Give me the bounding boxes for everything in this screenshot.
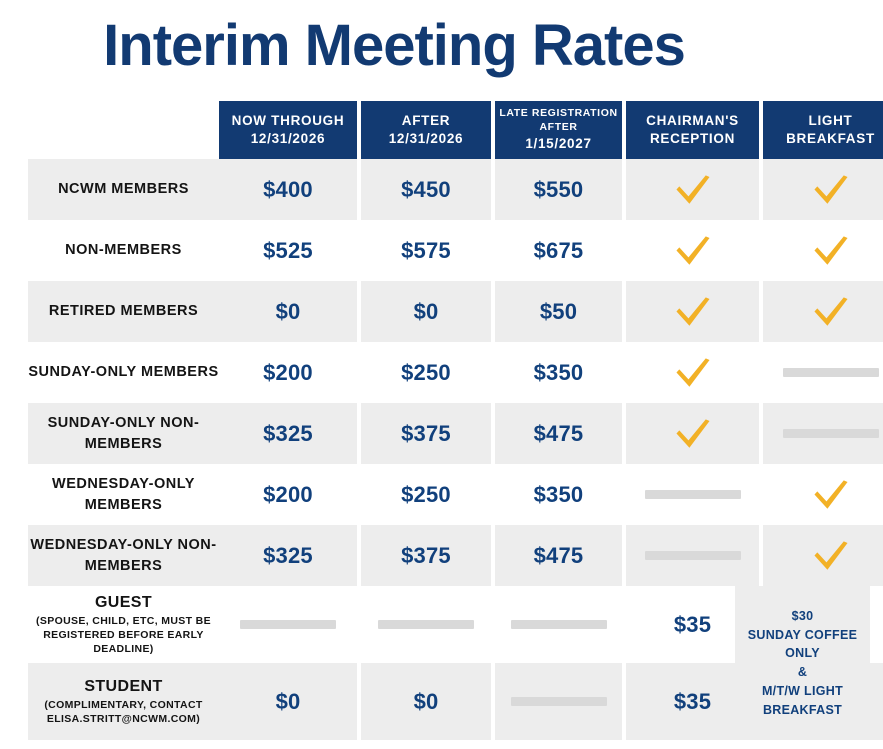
breakfast-cell bbox=[763, 525, 883, 586]
table-row: SUNDAY-ONLY NON-MEMBERS$325$375$475 bbox=[28, 403, 870, 464]
checkmark-icon bbox=[812, 539, 850, 573]
breakfast-cell bbox=[763, 220, 883, 281]
table-row: WEDNESDAY-ONLY NON-MEMBERS$325$375$475 bbox=[28, 525, 870, 586]
price-cell-after: $0 bbox=[361, 663, 491, 740]
not-included-bar bbox=[783, 368, 879, 377]
price-value: $0 bbox=[414, 689, 439, 715]
price-cell-now-through bbox=[219, 586, 357, 663]
price-value: $250 bbox=[401, 360, 451, 386]
table-body: NCWM MEMBERS$400$450$550NON-MEMBERS$525$… bbox=[28, 159, 870, 586]
price-value: $400 bbox=[263, 177, 313, 203]
checkmark-icon bbox=[812, 478, 850, 512]
price-cell-now-through: $525 bbox=[219, 220, 357, 281]
price-cell-after: $375 bbox=[361, 403, 491, 464]
price-cell-late bbox=[495, 663, 622, 740]
row-label: RETIRED MEMBERS bbox=[49, 301, 198, 322]
row-label: SUNDAY-ONLY MEMBERS bbox=[28, 362, 218, 383]
row-label-cell: GUEST(SPOUSE, CHILD, ETC, MUST BE REGIST… bbox=[28, 586, 219, 663]
header-line-1: AFTER bbox=[402, 112, 451, 130]
row-label: STUDENT bbox=[84, 677, 162, 696]
price-value: $550 bbox=[534, 177, 584, 203]
price-cell-late: $475 bbox=[495, 403, 622, 464]
price-cell-now-through: $325 bbox=[219, 525, 357, 586]
price-value: $0 bbox=[276, 689, 301, 715]
header-line-1: NOW THROUGH bbox=[232, 112, 345, 130]
price-value: $325 bbox=[263, 543, 313, 569]
price-cell-now-through: $400 bbox=[219, 159, 357, 220]
header-line-1: CHAIRMAN'S bbox=[646, 112, 739, 130]
reception-cell bbox=[626, 220, 759, 281]
table-row: RETIRED MEMBERS$0$0$50 bbox=[28, 281, 870, 342]
header-line-2: BREAKFAST bbox=[786, 130, 875, 148]
breakfast-note-cell: $30SUNDAY COFFEEONLY&M/T/W LIGHTBREAKFAS… bbox=[735, 586, 870, 740]
header-cell-late-registration: LATE REGISTRATION AFTER 1/15/2027 bbox=[495, 101, 622, 159]
breakfast-cell bbox=[763, 403, 883, 464]
checkmark-icon bbox=[812, 234, 850, 268]
table-footer-rows: GUEST(SPOUSE, CHILD, ETC, MUST BE REGIST… bbox=[28, 586, 870, 740]
reception-cell bbox=[626, 281, 759, 342]
breakfast-cell bbox=[763, 464, 883, 525]
row-label: NON-MEMBERS bbox=[65, 240, 182, 261]
reception-cell bbox=[626, 464, 759, 525]
price-value: $50 bbox=[540, 299, 577, 325]
checkmark-icon bbox=[674, 234, 712, 268]
row-label: GUEST bbox=[95, 593, 152, 612]
price-cell-now-through: $0 bbox=[219, 281, 357, 342]
page-title: Interim Meeting Rates bbox=[0, 16, 788, 77]
price-cell-now-through: $200 bbox=[219, 342, 357, 403]
row-sublabel: (SPOUSE, CHILD, ETC, MUST BE REGISTERED … bbox=[34, 614, 213, 656]
price-cell-after: $575 bbox=[361, 220, 491, 281]
row-label-cell: NON-MEMBERS bbox=[28, 220, 219, 281]
reception-cell bbox=[626, 525, 759, 586]
header-line-1b: AFTER bbox=[540, 121, 578, 135]
price-value: $450 bbox=[401, 177, 451, 203]
breakfast-note-text: $30SUNDAY COFFEEONLY&M/T/W LIGHTBREAKFAS… bbox=[748, 607, 857, 720]
price-cell-late: $550 bbox=[495, 159, 622, 220]
header-line-2: RECEPTION bbox=[650, 130, 735, 148]
row-label-cell: RETIRED MEMBERS bbox=[28, 281, 219, 342]
header-line-1: LATE REGISTRATION bbox=[499, 107, 617, 121]
not-included-bar bbox=[378, 620, 474, 629]
header-cell-blank bbox=[28, 101, 219, 159]
price-value: $0 bbox=[276, 299, 301, 325]
price-value: $350 bbox=[534, 482, 584, 508]
table-row: NCWM MEMBERS$400$450$550 bbox=[28, 159, 870, 220]
price-cell-now-through: $0 bbox=[219, 663, 357, 740]
header-line-2: 12/31/2026 bbox=[251, 130, 326, 148]
price-cell-now-through: $325 bbox=[219, 403, 357, 464]
checkmark-icon bbox=[812, 295, 850, 329]
row-label: WEDNESDAY-ONLY NON-MEMBERS bbox=[28, 535, 219, 576]
price-cell-after: $0 bbox=[361, 281, 491, 342]
header-line-2: 1/15/2027 bbox=[525, 135, 591, 153]
price-value: $200 bbox=[263, 482, 313, 508]
not-included-bar bbox=[783, 429, 879, 438]
price-value: $375 bbox=[401, 421, 451, 447]
table-header-row: NOW THROUGH 12/31/2026 AFTER 12/31/2026 … bbox=[28, 101, 870, 159]
price-cell-late: $675 bbox=[495, 220, 622, 281]
price-cell-after bbox=[361, 586, 491, 663]
checkmark-icon bbox=[812, 173, 850, 207]
not-included-bar bbox=[240, 620, 336, 629]
price-cell-after: $250 bbox=[361, 464, 491, 525]
price-value: $475 bbox=[534, 421, 584, 447]
row-label-cell: SUNDAY-ONLY MEMBERS bbox=[28, 342, 219, 403]
price-value: $475 bbox=[534, 543, 584, 569]
reception-cell bbox=[626, 159, 759, 220]
price-value: $350 bbox=[534, 360, 584, 386]
row-label-cell: WEDNESDAY-ONLY MEMBERS bbox=[28, 464, 219, 525]
price-cell-after: $250 bbox=[361, 342, 491, 403]
not-included-bar bbox=[645, 551, 741, 560]
checkmark-icon bbox=[674, 173, 712, 207]
header-line-2: 12/31/2026 bbox=[389, 130, 464, 148]
checkmark-icon bbox=[674, 356, 712, 390]
price-cell-late: $350 bbox=[495, 464, 622, 525]
price-value: $0 bbox=[414, 299, 439, 325]
table-row: SUNDAY-ONLY MEMBERS$200$250$350 bbox=[28, 342, 870, 403]
price-cell-late bbox=[495, 586, 622, 663]
checkmark-icon bbox=[674, 417, 712, 451]
price-cell-after: $375 bbox=[361, 525, 491, 586]
reception-cell bbox=[626, 342, 759, 403]
price-cell-late: $50 bbox=[495, 281, 622, 342]
header-line-1: LIGHT bbox=[809, 112, 853, 130]
price-value: $575 bbox=[401, 238, 451, 264]
header-cell-now-through: NOW THROUGH 12/31/2026 bbox=[219, 101, 357, 159]
breakfast-cell bbox=[763, 159, 883, 220]
price-value: $200 bbox=[263, 360, 313, 386]
price-value: $325 bbox=[263, 421, 313, 447]
price-cell-late: $475 bbox=[495, 525, 622, 586]
header-cell-after: AFTER 12/31/2026 bbox=[361, 101, 491, 159]
not-included-bar bbox=[511, 620, 607, 629]
price-cell-late: $350 bbox=[495, 342, 622, 403]
rates-page: Interim Meeting Rates NOW THROUGH 12/31/… bbox=[0, 0, 883, 749]
row-label-cell: SUNDAY-ONLY NON-MEMBERS bbox=[28, 403, 219, 464]
header-cell-chairmans-reception: CHAIRMAN'S RECEPTION bbox=[626, 101, 759, 159]
breakfast-cell bbox=[763, 342, 883, 403]
row-label-cell: WEDNESDAY-ONLY NON-MEMBERS bbox=[28, 525, 219, 586]
price-value: $525 bbox=[263, 238, 313, 264]
row-label: WEDNESDAY-ONLY MEMBERS bbox=[28, 474, 219, 515]
price-value: $675 bbox=[534, 238, 584, 264]
price-value: $375 bbox=[401, 543, 451, 569]
row-label: SUNDAY-ONLY NON-MEMBERS bbox=[28, 413, 219, 454]
price-cell-now-through: $200 bbox=[219, 464, 357, 525]
row-label-cell: STUDENT(COMPLIMENTARY, CONTACT ELISA.STR… bbox=[28, 663, 219, 740]
table-row: NON-MEMBERS$525$575$675 bbox=[28, 220, 870, 281]
rates-table: NOW THROUGH 12/31/2026 AFTER 12/31/2026 … bbox=[28, 101, 870, 740]
not-included-bar bbox=[645, 490, 741, 499]
price-cell-after: $450 bbox=[361, 159, 491, 220]
row-label-cell: NCWM MEMBERS bbox=[28, 159, 219, 220]
reception-cell bbox=[626, 403, 759, 464]
row-label: NCWM MEMBERS bbox=[58, 179, 189, 200]
not-included-bar bbox=[511, 697, 607, 706]
row-sublabel: (COMPLIMENTARY, CONTACT ELISA.STRITT@NCW… bbox=[34, 698, 213, 726]
price-value: $35 bbox=[674, 689, 711, 715]
checkmark-icon bbox=[674, 295, 712, 329]
header-cell-light-breakfast: LIGHT BREAKFAST bbox=[763, 101, 883, 159]
breakfast-cell bbox=[763, 281, 883, 342]
price-value: $250 bbox=[401, 482, 451, 508]
table-row: WEDNESDAY-ONLY MEMBERS$200$250$350 bbox=[28, 464, 870, 525]
price-value: $35 bbox=[674, 612, 711, 638]
